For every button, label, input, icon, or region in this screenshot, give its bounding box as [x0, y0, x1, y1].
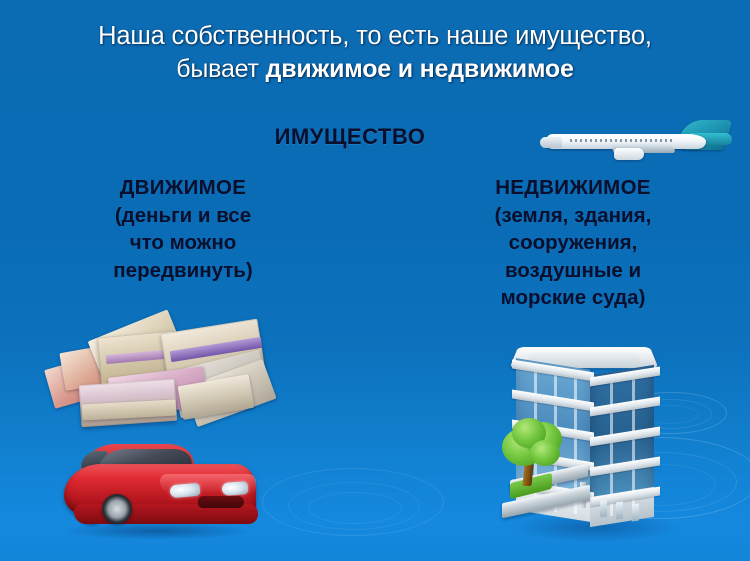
water-ripple-decoration	[262, 468, 444, 536]
right-column-desc-line-3: воздушные и	[418, 257, 728, 285]
title-line-1: Наша собственность, то есть наше имущест…	[0, 20, 750, 53]
airplane-engine	[614, 148, 644, 160]
office-building-image	[494, 336, 684, 551]
right-column-desc-line-1: (земля, здания,	[418, 202, 728, 230]
right-column-desc-line-2: сооружения,	[418, 229, 728, 257]
slide-title: Наша собственность, то есть наше имущест…	[0, 20, 750, 86]
column-immovable-property-text: НЕДВИЖИМОЕ (земля, здания, сооружения, в…	[418, 174, 728, 312]
left-column-desc-line-1: (деньги и все	[18, 202, 348, 230]
main-heading-property: ИМУЩЕСТВО	[195, 124, 505, 150]
building-entrance-door	[600, 499, 607, 517]
title-line-2: бывает движимое и недвижимое	[0, 53, 750, 86]
presentation-slide: Наша собственность, то есть наше имущест…	[0, 0, 750, 561]
title-line-2-regular: бывает	[176, 55, 265, 83]
airplane-windows	[570, 139, 674, 142]
column-movable-property-text: ДВИЖИМОЕ (деньги и все что можно передви…	[18, 174, 348, 284]
car-shadow	[62, 522, 252, 540]
left-column-desc-line-3: передвинуть)	[18, 257, 348, 285]
water-ripple-decoration	[288, 482, 420, 530]
airplane-image	[540, 120, 728, 168]
car-grille	[198, 496, 244, 508]
car-headlight-left	[169, 483, 200, 499]
money-stacks-image	[48, 316, 273, 434]
red-sports-car-image	[52, 438, 267, 550]
car-headlight-right	[222, 481, 249, 496]
car-front-wheel	[102, 494, 132, 524]
tree-foliage	[530, 440, 560, 466]
left-column-desc-line-2: что можно	[18, 229, 348, 257]
building-entrance-door	[632, 503, 639, 521]
airplane-nose	[540, 137, 562, 148]
building-entrance-door	[616, 501, 623, 519]
title-line-2-bold: движимое и недвижимое	[266, 55, 574, 83]
water-ripple-decoration	[308, 492, 402, 524]
right-column-desc-line-4: морские суда)	[418, 284, 728, 312]
left-column-caption: ДВИЖИМОЕ	[18, 174, 348, 202]
right-column-caption: НЕДВИЖИМОЕ	[418, 174, 728, 202]
